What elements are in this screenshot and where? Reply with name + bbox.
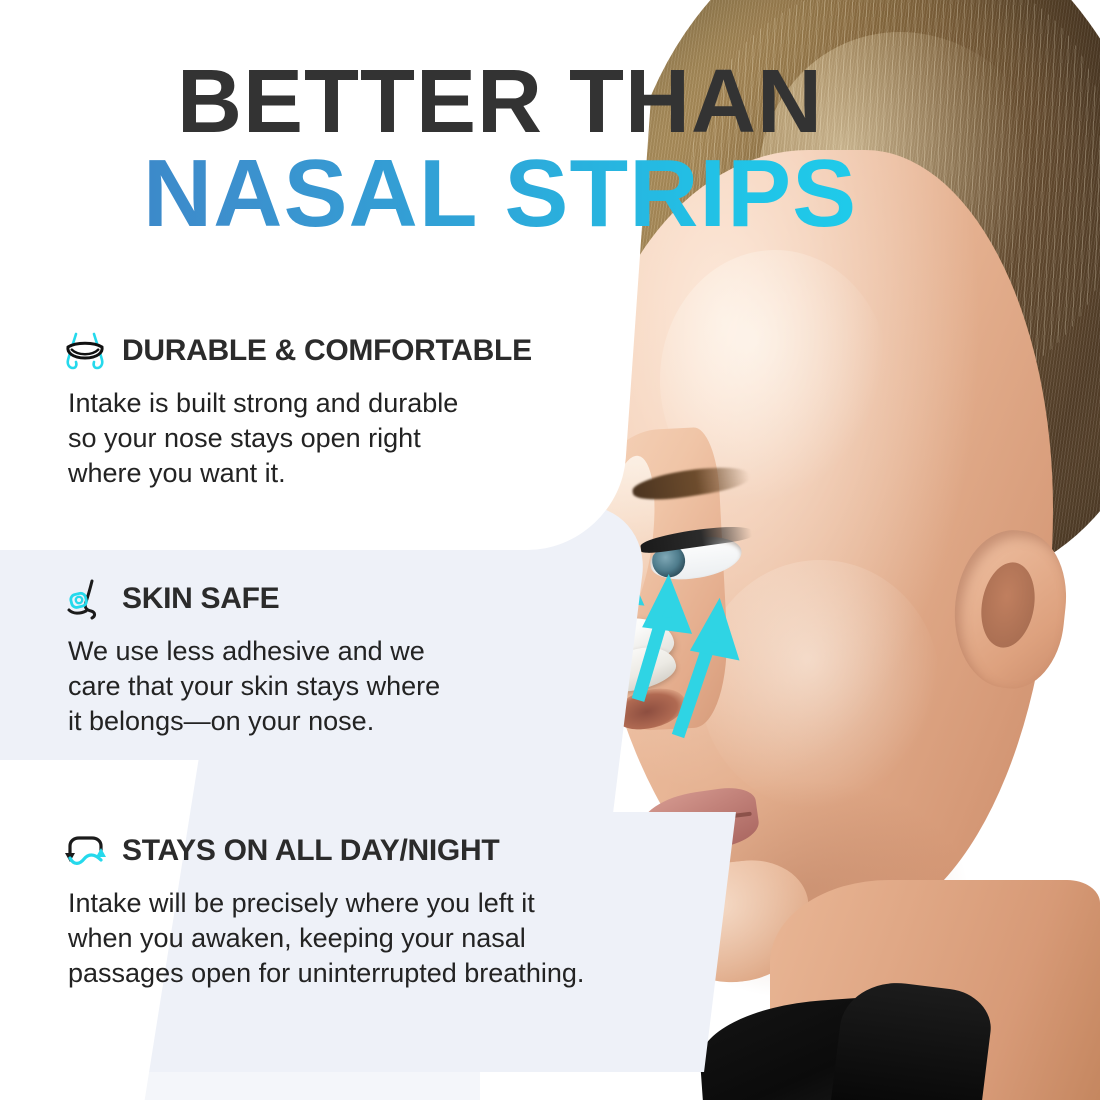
nose-front-with-dilator-icon [62,330,108,372]
feature-body: Intake will be precisely where you left … [68,886,584,991]
feature-stays-on-all-day-night: STAYS ON ALL DAY/NIGHT Intake will be pr… [62,830,584,991]
feature-title: STAYS ON ALL DAY/NIGHT [122,834,499,868]
day-night-cycle-icon [62,830,108,872]
headline: BETTER THAN NASAL STRIPS [0,58,1000,242]
feature-heading-row: SKIN SAFE [62,578,440,620]
feature-title: DURABLE & COMFORTABLE [122,334,532,368]
feature-body: We use less adhesive and we care that yo… [68,634,440,739]
ad-creative: BETTER THAN NASAL STRIPS DURABLE & COMFO… [0,0,1100,1100]
nose-profile-with-patch-icon [62,578,108,620]
headline-line-2: NASAL STRIPS [0,146,1000,242]
feature-skin-safe: SKIN SAFE We use less adhesive and we ca… [62,578,440,739]
headline-line-1: BETTER THAN [0,58,1000,146]
feature-body: Intake is built strong and durable so yo… [68,386,532,491]
feature-heading-row: STAYS ON ALL DAY/NIGHT [62,830,584,872]
feature-title: SKIN SAFE [122,582,279,616]
feature-heading-row: DURABLE & COMFORTABLE [62,330,532,372]
feature-durable-comfortable: DURABLE & COMFORTABLE Intake is built st… [62,330,532,491]
